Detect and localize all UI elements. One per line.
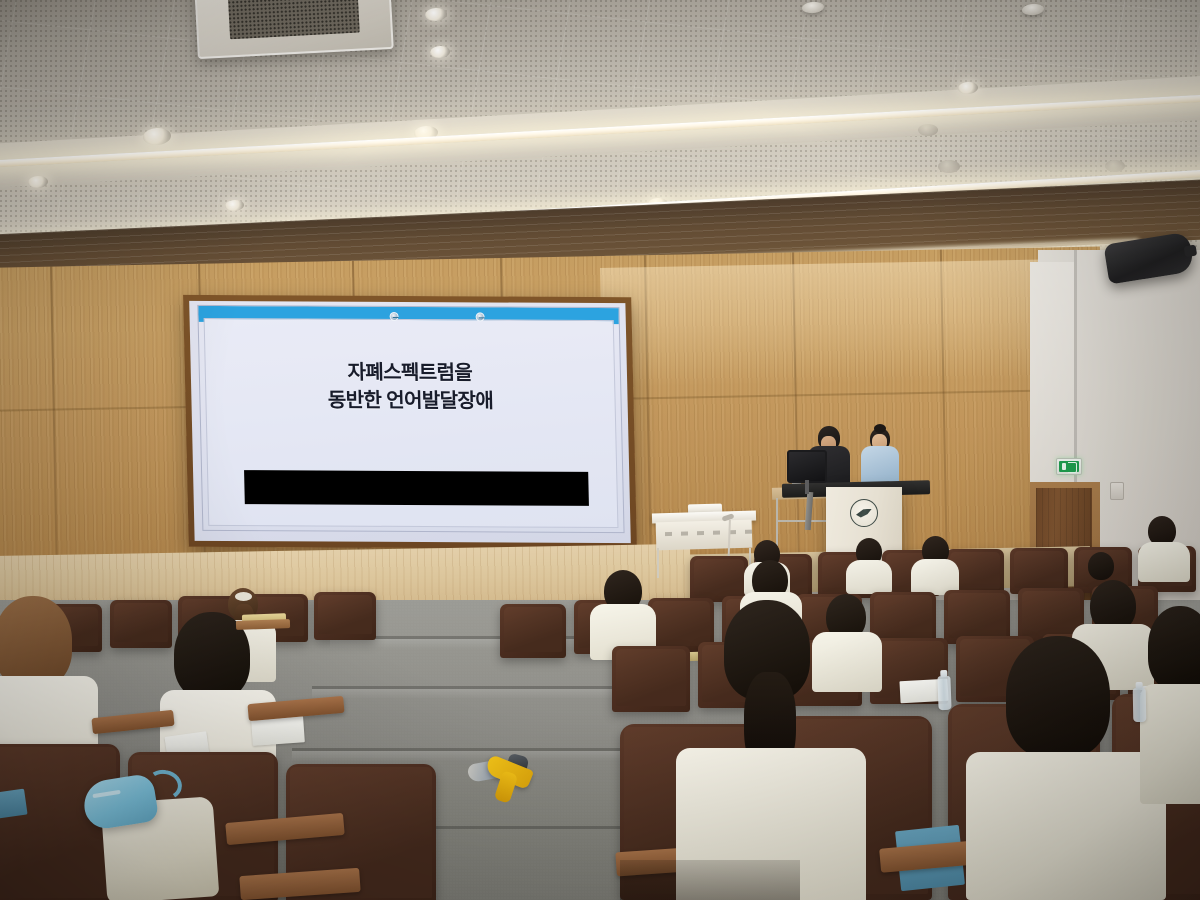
foreground-shadow <box>620 860 800 900</box>
projection-screen: 자폐스펙트럼을 동반한 언어발달장애 <box>183 295 637 549</box>
seat[interactable] <box>110 600 172 648</box>
folding-table-slots <box>656 530 752 537</box>
seat[interactable] <box>612 646 690 712</box>
person-head <box>1088 552 1114 580</box>
slide-title-line-1: 자폐스펙트럼을 <box>199 358 620 389</box>
minimize-icon <box>390 312 399 321</box>
seat[interactable] <box>500 604 566 658</box>
exit-sign-pane <box>1059 461 1079 472</box>
crest-leaf-mark <box>856 509 872 518</box>
person-torso <box>812 632 882 692</box>
folding-table-skirt <box>656 520 753 551</box>
ceiling-speaker <box>938 160 960 173</box>
slide-title-line-2: 동반한 언어발달장애 <box>200 386 621 417</box>
person-torso <box>1138 542 1190 582</box>
person-head <box>1006 636 1110 758</box>
lecture-hall-photo: 자폐스펙트럼을 동반한 언어발달장애 <box>0 0 1200 900</box>
person-head <box>0 596 72 688</box>
seat[interactable] <box>314 592 376 640</box>
ac-grille <box>228 0 361 39</box>
ceiling-ac-unit <box>194 0 393 59</box>
power-outlet <box>1110 482 1124 500</box>
presenter-monitor[interactable] <box>787 450 827 483</box>
water-bottle <box>1133 688 1147 722</box>
presenter-right-hair-bun <box>874 424 886 433</box>
person-head <box>1148 606 1200 690</box>
ceiling-speaker <box>918 124 938 136</box>
aisle-step-highlight <box>312 689 662 699</box>
water-bottle <box>937 676 951 710</box>
emergency-exit-sign <box>1056 458 1082 475</box>
desk-arm <box>236 619 290 630</box>
presentation-slide: 자폐스펙트럼을 동반한 언어발달장애 <box>197 305 624 533</box>
slide-title: 자폐스펙트럼을 동반한 언어발달장애 <box>199 358 620 417</box>
person-torso <box>846 560 892 594</box>
handout-paper <box>251 716 305 746</box>
person-torso <box>1140 684 1200 804</box>
slide-redacted-bar <box>244 470 589 506</box>
hair-scrunchie <box>235 592 252 601</box>
person-torso <box>966 752 1166 900</box>
ceiling-speaker <box>1105 160 1125 172</box>
side-table-legs <box>776 498 830 546</box>
university-crest <box>850 499 878 527</box>
